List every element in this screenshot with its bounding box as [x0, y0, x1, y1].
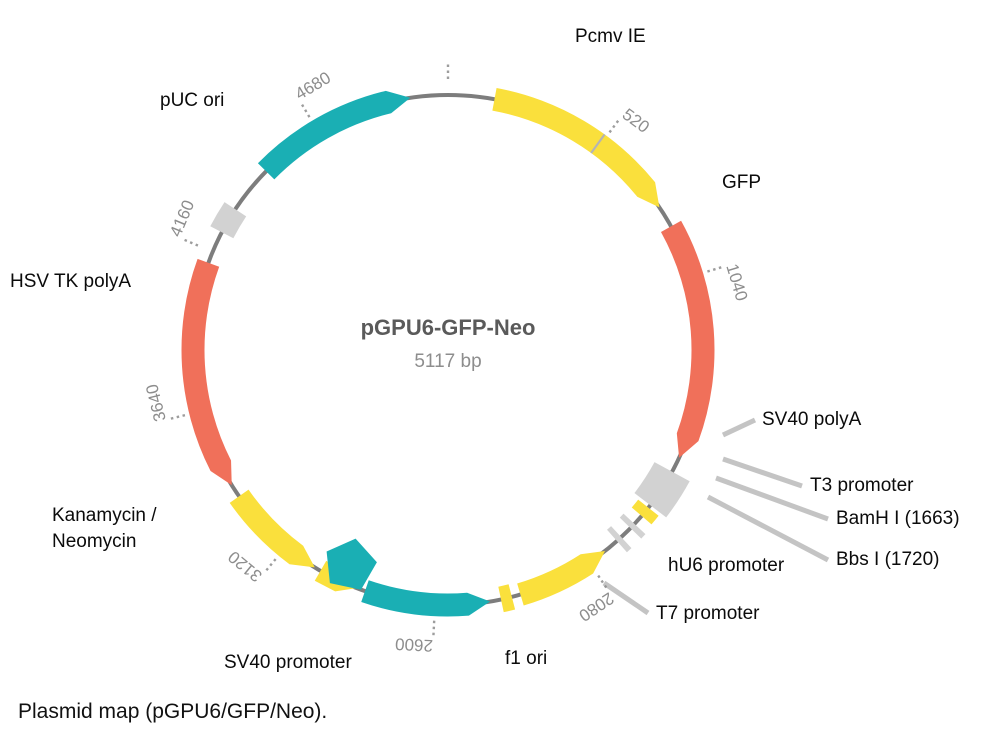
tick-mark-2600 — [433, 621, 434, 639]
feature-f1-ori[interactable] — [361, 580, 490, 616]
feature-label-bbs-i-1720: Bbs I (1720) — [836, 549, 940, 570]
tick-label-4160: 4160 — [166, 197, 198, 239]
feature-gfp[interactable] — [661, 221, 715, 458]
plasmid-map-svg: 5201040208026003120364041604680 Pcmv IEG… — [0, 0, 982, 744]
tick-mark-4680 — [300, 102, 309, 117]
plasmid-size: 5117 bp — [414, 351, 481, 372]
feature-pcmv-ie[interactable] — [492, 88, 659, 207]
feature-label-bamh-i-1663: BamH I (1663) — [836, 508, 960, 529]
feature-label-f1-ori: f1 ori — [505, 648, 547, 669]
center-annotation: pGPU6-GFP-Neo 5117 bp — [361, 315, 536, 372]
tick-mark-3640 — [167, 415, 184, 419]
feature-label-kanamycin-neomycin: Kanamycin /Neomycin — [52, 505, 157, 552]
feature-hu6-promoter[interactable] — [517, 551, 605, 606]
feature-labels: Pcmv IEGFPSV40 polyAT3 promoterBamH I (1… — [10, 26, 960, 673]
tick-label-3120: 3120 — [224, 547, 265, 586]
tick-label-2080: 2080 — [575, 588, 617, 625]
tick-label-520: 520 — [619, 105, 653, 137]
feature-label-t7-promoter: T7 promoter — [656, 603, 760, 624]
plasmid-map-figure: 5201040208026003120364041604680 Pcmv IEG… — [0, 0, 982, 744]
tick-mark-1040 — [707, 266, 724, 271]
tick-label-1040: 1040 — [722, 262, 751, 304]
feature-label-t3-promoter: T3 promoter — [810, 475, 914, 496]
feature-label-gfp: GFP — [722, 172, 761, 193]
figure-caption: Plasmid map (pGPU6/GFP/Neo). — [18, 700, 327, 724]
tick-label-2600: 2600 — [395, 634, 434, 655]
tick-marks — [167, 61, 724, 639]
leader-line-t3-promoter — [723, 459, 802, 486]
leader-lines — [604, 420, 828, 613]
leader-line-sv40-polya — [723, 420, 755, 435]
plasmid-name: pGPU6-GFP-Neo — [361, 315, 536, 340]
feature-puc-ori[interactable] — [258, 91, 410, 179]
tick-mark-3120 — [264, 559, 275, 573]
tick-label-4680: 4680 — [292, 68, 334, 104]
tick-mark-4160 — [181, 239, 198, 246]
feature-label-hu6-promoter: hU6 promoter — [668, 555, 785, 576]
feature-label-puc-ori: pUC ori — [160, 90, 224, 111]
tick-mark-520 — [610, 118, 621, 132]
leader-line-bbs-i-1720 — [708, 497, 828, 560]
feature-label-pcmv-ie: Pcmv IE — [575, 26, 646, 47]
feature-label-sv40-polya: SV40 polyA — [762, 409, 862, 430]
tick-label-3640: 3640 — [142, 382, 170, 423]
feature-hsv-tk-polya[interactable] — [210, 202, 246, 238]
feature-label-sv40-promoter: SV40 promoter — [224, 652, 352, 673]
feature-label-hsv-tk-polya: HSV TK polyA — [10, 271, 131, 292]
feature-kanamycin-neomycin[interactable] — [181, 259, 231, 485]
